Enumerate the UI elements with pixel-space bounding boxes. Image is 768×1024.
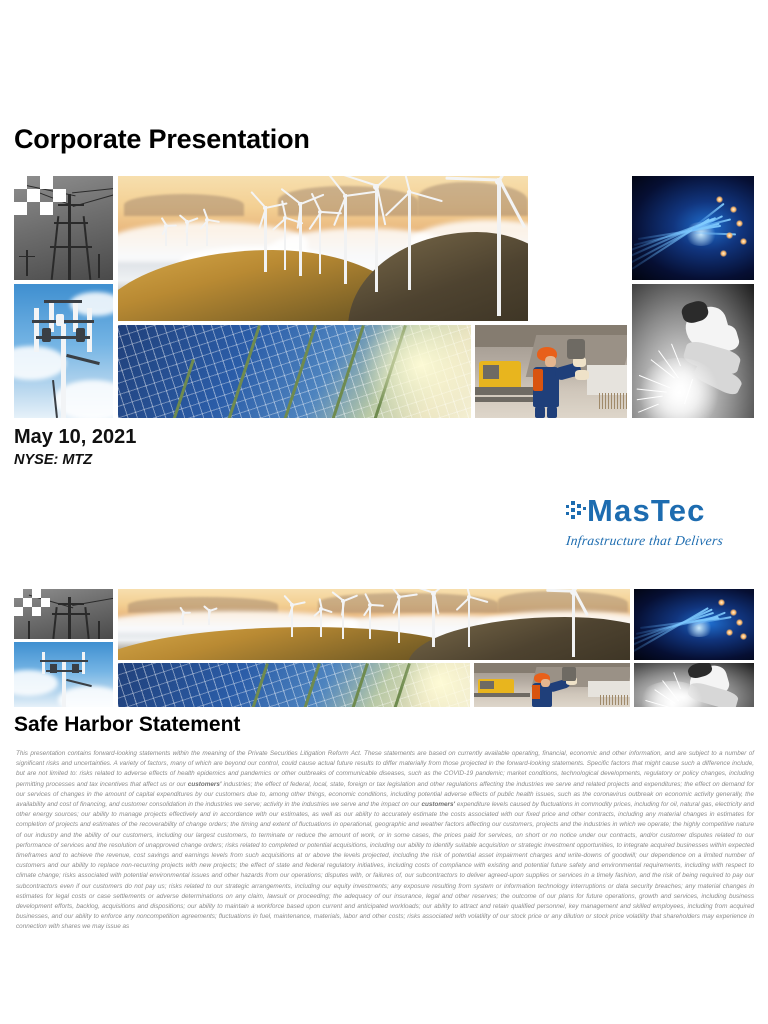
safe-harbor-title: Safe Harbor Statement: [14, 713, 240, 737]
page-title: Corporate Presentation: [14, 124, 310, 155]
image-collage-band-2: [14, 589, 754, 707]
image-construction-worker-2: [474, 663, 630, 707]
logo-dots-icon: [566, 500, 586, 522]
image-wind-farm-sunset: [118, 176, 528, 321]
image-fiber-optic-cables: [632, 176, 754, 280]
slide-title-page: Corporate Presentation: [0, 0, 768, 578]
image-transmission-pylon-grayscale-2: [14, 589, 113, 639]
image-welder-sparks-grayscale: [632, 284, 754, 418]
image-construction-worker: [475, 325, 627, 418]
image-collage-band: [14, 176, 754, 418]
safe-harbor-bold-1: customers': [188, 781, 222, 788]
slide-safe-harbor: Safe Harbor Statement This presentation …: [0, 586, 768, 1024]
image-wind-farm-sunset-2: [118, 589, 630, 660]
safe-harbor-text-3: expenditure levels caused by fluctuation…: [16, 801, 754, 930]
pdf-document-page: Corporate Presentation: [0, 0, 768, 1024]
image-solar-panel-array-2: [118, 663, 470, 707]
image-fiber-optic-cables-2: [634, 589, 754, 660]
stock-ticker: NYSE: MTZ: [14, 452, 92, 468]
presentation-date: May 10, 2021: [14, 426, 136, 449]
mastec-logo: MasTec Infrastructure that Delivers: [566, 492, 752, 558]
safe-harbor-body: This presentation contains forward-looki…: [16, 749, 754, 933]
image-welder-sparks-grayscale-2: [634, 663, 754, 707]
image-cell-tower-2: [14, 642, 113, 707]
image-transmission-pylon-grayscale: [14, 176, 113, 280]
image-cell-tower: [14, 284, 113, 418]
logo-wordmark: MasTec: [587, 494, 706, 528]
slide-separator: [0, 578, 768, 586]
image-solar-panel-array: [118, 325, 471, 418]
logo-tagline: Infrastructure that Delivers: [565, 533, 753, 549]
safe-harbor-bold-2: customers': [421, 801, 455, 808]
